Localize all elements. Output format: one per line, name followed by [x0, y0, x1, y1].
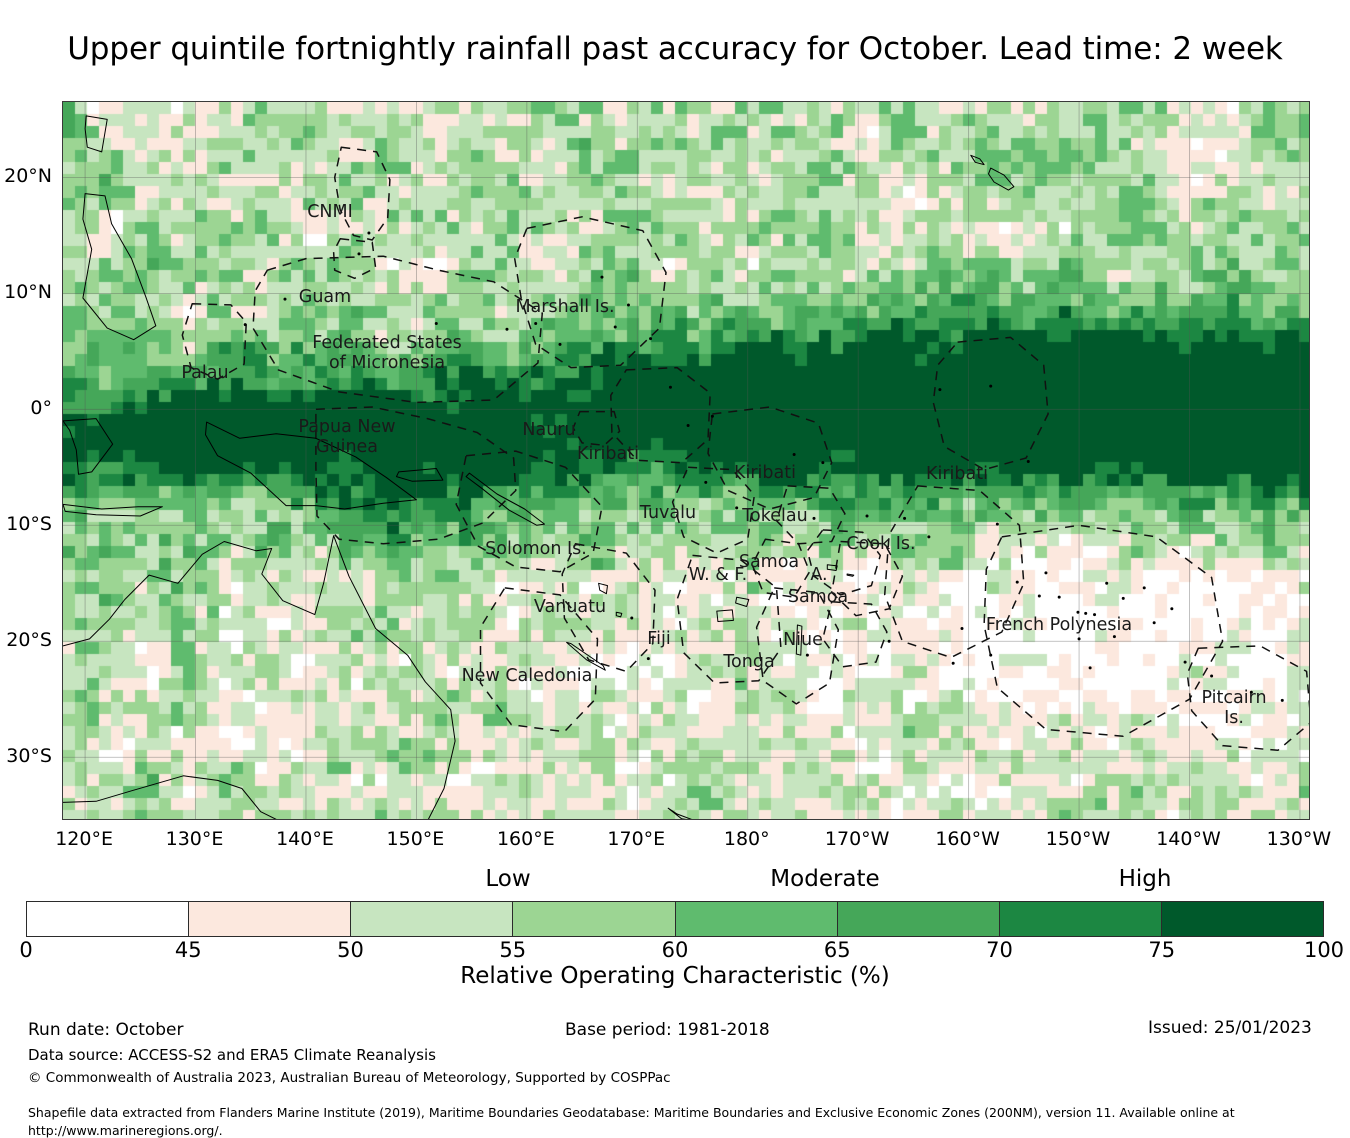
- colorbar-tick: 45: [175, 938, 202, 962]
- footer-issued-date: Issued: 25/01/2023: [1148, 1018, 1312, 1038]
- colorbar-band: [512, 902, 674, 936]
- x-axis-tick: 160°W: [935, 828, 1000, 850]
- colorbar-tick: 70: [986, 938, 1013, 962]
- x-axis-tick: 150°W: [1046, 828, 1111, 850]
- colorbar-category-labels: LowModerateHigh: [0, 866, 1350, 896]
- x-axis-tick: 150°E: [387, 828, 445, 850]
- y-axis-tick: 0°: [0, 397, 52, 419]
- colorbar-tick: 65: [824, 938, 851, 962]
- x-axis-tick: 180°: [724, 828, 770, 850]
- x-axis-tick: 120°E: [55, 828, 113, 850]
- colorbar-category-label: Moderate: [770, 866, 879, 892]
- x-axis-tick: 140°E: [276, 828, 334, 850]
- x-axis-tick: 130°W: [1267, 828, 1332, 850]
- colorbar: [26, 901, 1324, 937]
- y-axis-tick: 10°S: [0, 513, 52, 535]
- x-axis-tick: 170°W: [825, 828, 890, 850]
- page-title: Upper quintile fortnightly rainfall past…: [0, 30, 1350, 68]
- colorbar-tick-labels: 045505560657075100: [0, 938, 1350, 964]
- roc-heatmap-raster: [63, 102, 1310, 820]
- footer-run-date: Run date: October: [28, 1020, 184, 1040]
- footer-copyright: © Commonwealth of Australia 2023, Austra…: [28, 1070, 671, 1086]
- colorbar-category-label: High: [1119, 866, 1172, 892]
- footer-data-source: Data source: ACCESS-S2 and ERA5 Climate …: [28, 1046, 436, 1064]
- colorbar-tick: 50: [337, 938, 364, 962]
- y-axis-tick: 20°N: [0, 165, 52, 187]
- y-axis-tick: 10°N: [0, 281, 52, 303]
- y-axis-tick: 20°S: [0, 629, 52, 651]
- colorbar-band: [27, 902, 188, 936]
- x-axis-tick: 140°W: [1156, 828, 1221, 850]
- colorbar-band: [837, 902, 999, 936]
- footer-shapefile-line1: Shapefile data extracted from Flanders M…: [28, 1105, 1235, 1120]
- colorbar-band: [999, 902, 1161, 936]
- colorbar-tick: 100: [1304, 938, 1344, 962]
- map-panel: [62, 101, 1310, 820]
- colorbar-tick: 60: [662, 938, 689, 962]
- footer-shapefile-line2: http://www.marineregions.org/.: [28, 1123, 223, 1138]
- colorbar-axis-label: Relative Operating Characteristic (%): [0, 963, 1350, 989]
- colorbar-tick: 0: [19, 938, 32, 962]
- x-axis-tick: 170°E: [607, 828, 665, 850]
- footer-base-period: Base period: 1981-2018: [565, 1020, 770, 1040]
- colorbar-category-label: Low: [485, 866, 530, 892]
- colorbar-band: [1161, 902, 1323, 936]
- colorbar-band: [350, 902, 512, 936]
- colorbar-tick: 75: [1148, 938, 1175, 962]
- x-axis-tick: 160°E: [497, 828, 555, 850]
- colorbar-tick: 55: [499, 938, 526, 962]
- colorbar-band: [188, 902, 350, 936]
- colorbar-band: [675, 902, 837, 936]
- y-axis-tick: 30°S: [0, 745, 52, 767]
- x-axis-tick: 130°E: [166, 828, 224, 850]
